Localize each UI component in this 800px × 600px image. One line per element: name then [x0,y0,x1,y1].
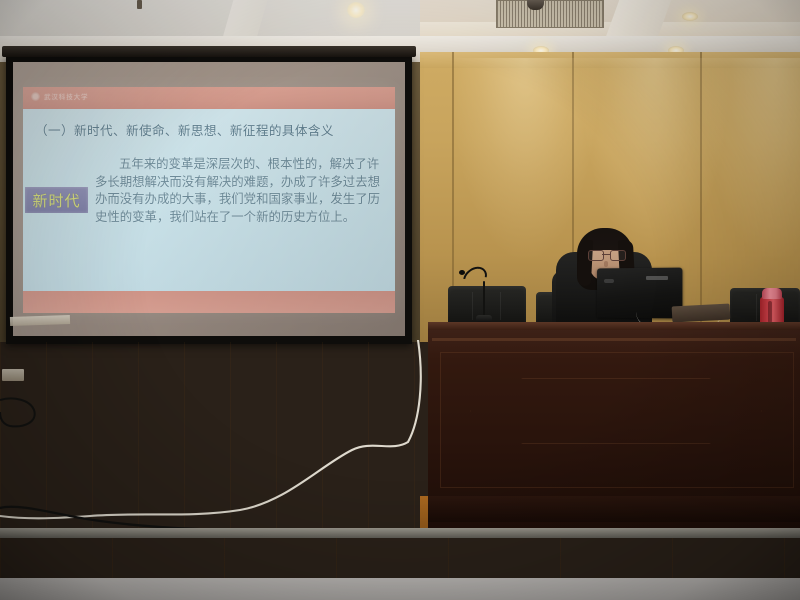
slide-paragraph: 五年来的变革是深层次的、根本性的，解决了许多长期想解决而没有解决的难题，办成了许… [95,155,381,225]
thermos-stripe [768,301,772,323]
podium-diamond-detail [470,378,762,444]
projection-screen-roller [2,46,416,57]
downlight-icon [682,12,698,21]
sprinkler-icon [137,0,142,9]
microphone-left-head [459,270,465,275]
slide-header-band: 武汉科技大学 [23,87,395,109]
stage-riser-face [0,538,800,578]
podium-moulding [432,338,796,341]
desk-papers [672,303,731,322]
university-logo-mark [31,92,40,101]
projected-slide: 武汉科技大学 （一）新时代、新使命、新思想、新征程的具体含义 新时代 五年来的变… [23,87,395,313]
hvac-vent-icon [496,0,604,28]
laptop [597,268,682,319]
stage-floor [0,342,440,530]
university-logo-text: 武汉科技大学 [44,91,88,101]
stage-edge-nosing [0,528,800,538]
thermos [760,297,784,325]
speaker-nose [604,261,608,267]
speaker-glasses-icon [588,250,624,259]
laptop-brand-logo [646,276,668,280]
floor [0,578,800,600]
speaker-hair-left [577,240,593,287]
podium-base [428,496,800,522]
wall-outlet-icon [2,369,24,381]
wall-light-glow [450,58,600,258]
slide-badge-label: 新时代 [32,190,80,211]
university-logo: 武汉科技大学 [31,91,88,101]
podium-top-edge [428,322,800,330]
microphone-left-base [476,315,492,322]
laptop-latch [604,279,614,283]
slide-badge-new-era: 新时代 [25,187,88,213]
wall-light-glow [700,58,800,258]
thermos-lid [762,288,782,299]
slide-title: （一）新时代、新使命、新思想、新征程的具体含义 [35,120,385,139]
slide-footer-band [23,291,395,313]
ceiling-light-icon [347,2,365,18]
lecture-hall-photo: 武汉科技大学 （一）新时代、新使命、新思想、新征程的具体含义 新时代 五年来的变… [0,0,800,600]
